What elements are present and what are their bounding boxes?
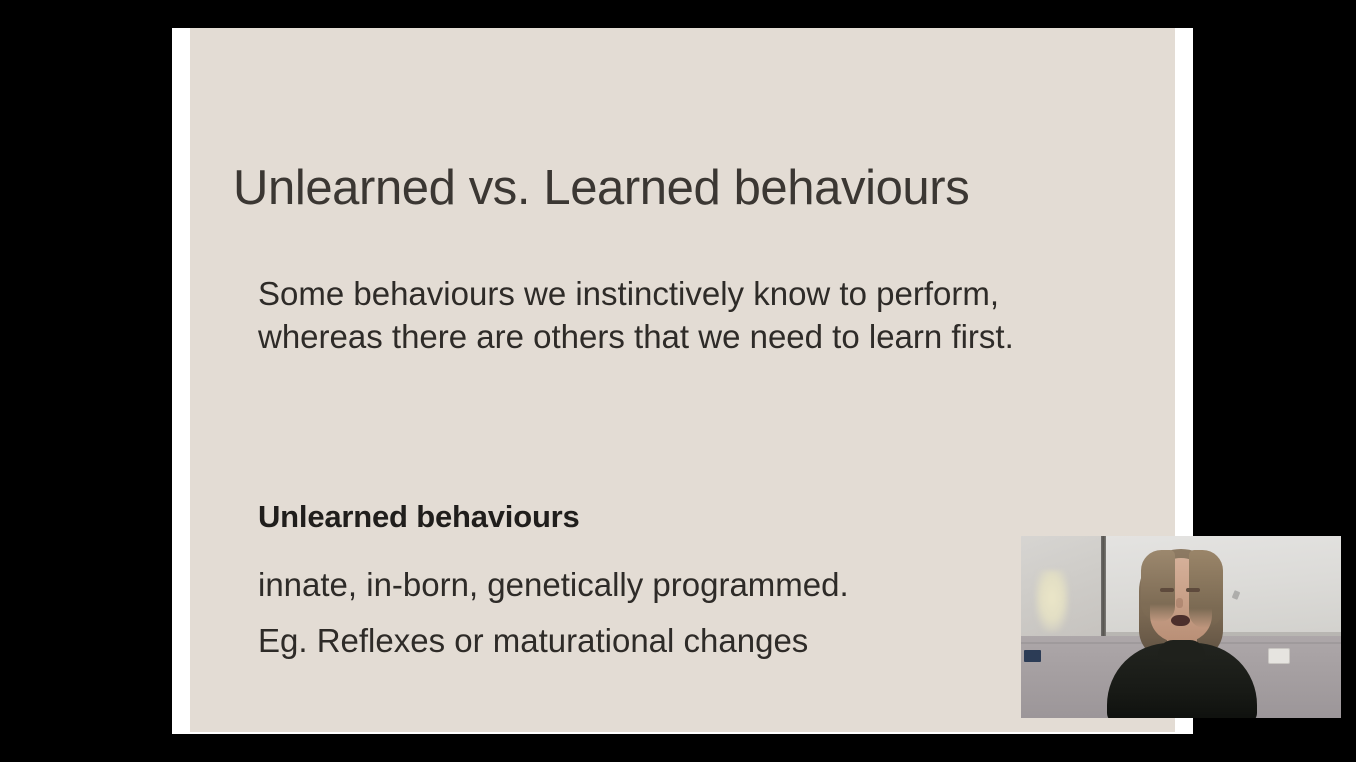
slide-title: Unlearned vs. Learned behaviours (233, 162, 969, 215)
presenter-nose (1176, 598, 1183, 608)
slide-intro-paragraph: Some behaviours we instinctively know to… (258, 273, 1103, 358)
presenter-eye-right (1186, 588, 1200, 592)
unlearned-behaviours-section: Unlearned behaviours innate, in-born, ge… (258, 498, 1138, 668)
whiteboard-glare (1035, 570, 1069, 632)
unlearned-behaviours-example: Eg. Reflexes or maturational changes (258, 613, 1138, 668)
presenter-hair-left (1141, 550, 1175, 622)
wall-box-white (1268, 648, 1290, 664)
presenter-webcam-overlay[interactable] (1021, 536, 1341, 718)
unlearned-behaviours-definition: innate, in-born, genetically programmed. (258, 557, 1138, 612)
wall-sign-blue (1024, 650, 1041, 662)
presenter-eye-left (1160, 588, 1174, 592)
unlearned-behaviours-heading: Unlearned behaviours (258, 498, 1138, 535)
presenter-mouth (1171, 615, 1190, 626)
video-player-stage: Unlearned vs. Learned behaviours Some be… (0, 0, 1356, 762)
presenter-collar (1158, 640, 1205, 662)
